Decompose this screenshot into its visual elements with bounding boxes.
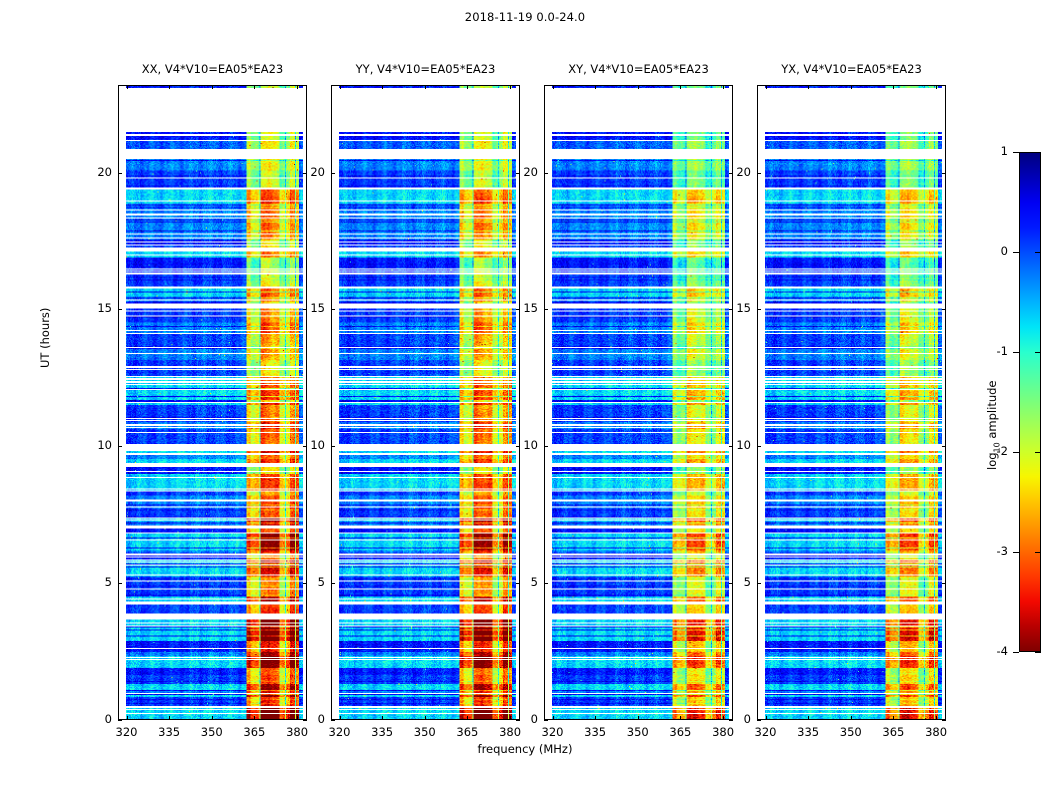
colorbar-gradient	[1020, 153, 1040, 651]
colorbar-tick-mark	[1035, 352, 1041, 353]
x-tick-mark	[127, 85, 128, 89]
x-tick-mark	[254, 85, 255, 89]
figure-title: 2018-11-19 0.0-24.0	[0, 10, 1050, 24]
x-tick-mark	[680, 716, 681, 720]
spectrogram-image-yy	[332, 86, 519, 719]
y-tick-mark	[757, 173, 761, 174]
panel-title-xy: XY, V4*V10=EA05*EA23	[544, 62, 733, 76]
colorbar-tick-mark	[1035, 152, 1041, 153]
y-tick-label: 10	[78, 438, 112, 452]
y-tick-mark	[118, 309, 122, 310]
colorbar-tick-mark	[1035, 652, 1041, 653]
colorbar-tick-mark	[1013, 252, 1019, 253]
spectrogram-panel-yx[interactable]	[757, 85, 946, 720]
x-tick-mark	[467, 85, 468, 89]
y-tick-mark	[544, 583, 548, 584]
x-tick-label: 335	[149, 725, 189, 739]
x-tick-label: 380	[703, 725, 743, 739]
x-tick-mark	[851, 85, 852, 89]
x-tick-mark	[808, 85, 809, 89]
x-tick-mark	[680, 85, 681, 89]
x-tick-label: 380	[277, 725, 317, 739]
colorbar-tick-label: -1	[978, 344, 1008, 358]
spectrogram-panel-yy[interactable]	[331, 85, 520, 720]
y-tick-mark	[544, 720, 548, 721]
y-tick-label: 5	[504, 575, 538, 589]
y-tick-label: 10	[717, 438, 751, 452]
y-tick-label: 15	[717, 301, 751, 315]
x-tick-mark	[595, 85, 596, 89]
x-tick-mark	[553, 716, 554, 720]
y-tick-label: 0	[717, 712, 751, 726]
y-tick-mark	[331, 173, 335, 174]
x-tick-label: 380	[490, 725, 530, 739]
x-tick-mark	[254, 716, 255, 720]
colorbar-tick-mark	[1035, 452, 1041, 453]
panel-title-yy: YY, V4*V10=EA05*EA23	[331, 62, 520, 76]
y-tick-label: 15	[504, 301, 538, 315]
x-tick-mark	[893, 716, 894, 720]
y-tick-label: 0	[504, 712, 538, 726]
x-tick-mark	[851, 716, 852, 720]
x-tick-mark	[127, 716, 128, 720]
y-tick-mark	[118, 446, 122, 447]
y-tick-label: 20	[291, 165, 325, 179]
x-tick-mark	[510, 85, 511, 89]
y-tick-mark	[942, 446, 946, 447]
y-axis-label: UT (hours)	[38, 308, 52, 368]
y-tick-label: 10	[291, 438, 325, 452]
colorbar-tick-mark	[1035, 252, 1041, 253]
y-tick-mark	[544, 309, 548, 310]
y-tick-label: 20	[717, 165, 751, 179]
x-tick-mark	[212, 716, 213, 720]
colorbar-tick-mark	[1035, 552, 1041, 553]
y-tick-label: 20	[504, 165, 538, 179]
x-tick-mark	[425, 85, 426, 89]
colorbar-label-main: log	[985, 452, 999, 470]
spectrogram-image-xy	[545, 86, 732, 719]
x-tick-label: 350	[405, 725, 445, 739]
y-tick-mark	[942, 309, 946, 310]
x-tick-label: 365	[447, 725, 487, 739]
spectrogram-image-xx	[119, 86, 306, 719]
panel-title-yx: YX, V4*V10=EA05*EA23	[757, 62, 946, 76]
x-tick-mark	[297, 85, 298, 89]
colorbar-tick-label: -4	[978, 644, 1008, 658]
y-tick-mark	[118, 583, 122, 584]
colorbar-tick-mark	[1013, 452, 1019, 453]
x-tick-label: 320	[107, 725, 147, 739]
y-tick-mark	[331, 583, 335, 584]
x-tick-mark	[893, 85, 894, 89]
x-tick-label: 335	[362, 725, 402, 739]
y-tick-mark	[942, 173, 946, 174]
y-tick-label: 0	[78, 712, 112, 726]
colorbar-tick-mark	[1013, 552, 1019, 553]
x-tick-mark	[638, 85, 639, 89]
x-tick-mark	[808, 716, 809, 720]
y-tick-mark	[331, 309, 335, 310]
colorbar-tick-mark	[1013, 652, 1019, 653]
x-tick-label: 365	[873, 725, 913, 739]
y-tick-label: 15	[78, 301, 112, 315]
y-tick-mark	[942, 583, 946, 584]
colorbar[interactable]	[1019, 152, 1041, 652]
y-tick-mark	[757, 446, 761, 447]
x-axis-label: frequency (MHz)	[0, 742, 1050, 756]
colorbar-label-subscript: 10	[992, 442, 1001, 452]
x-tick-mark	[340, 716, 341, 720]
y-tick-label: 5	[291, 575, 325, 589]
x-tick-label: 335	[575, 725, 615, 739]
x-tick-mark	[340, 85, 341, 89]
x-tick-mark	[936, 716, 937, 720]
y-tick-mark	[942, 720, 946, 721]
y-tick-mark	[757, 583, 761, 584]
spectrogram-panel-xy[interactable]	[544, 85, 733, 720]
colorbar-tick-mark	[1013, 352, 1019, 353]
x-tick-mark	[766, 716, 767, 720]
x-tick-mark	[382, 716, 383, 720]
x-tick-label: 350	[831, 725, 871, 739]
panel-title-xx: XX, V4*V10=EA05*EA23	[118, 62, 307, 76]
y-tick-label: 5	[717, 575, 751, 589]
y-tick-label: 0	[291, 712, 325, 726]
y-tick-label: 5	[78, 575, 112, 589]
x-tick-label: 365	[660, 725, 700, 739]
x-tick-mark	[382, 85, 383, 89]
y-tick-label: 15	[291, 301, 325, 315]
x-tick-label: 320	[320, 725, 360, 739]
colorbar-tick-label: 0	[978, 244, 1008, 258]
x-tick-mark	[595, 716, 596, 720]
x-tick-mark	[723, 85, 724, 89]
x-tick-mark	[638, 716, 639, 720]
x-tick-label: 320	[533, 725, 573, 739]
y-tick-mark	[757, 720, 761, 721]
x-tick-label: 365	[234, 725, 274, 739]
x-tick-label: 350	[618, 725, 658, 739]
x-tick-mark	[425, 716, 426, 720]
y-tick-label: 20	[78, 165, 112, 179]
x-tick-mark	[553, 85, 554, 89]
x-tick-label: 380	[916, 725, 956, 739]
x-tick-mark	[467, 716, 468, 720]
y-tick-mark	[118, 720, 122, 721]
y-tick-mark	[544, 446, 548, 447]
x-tick-label: 350	[192, 725, 232, 739]
y-tick-mark	[331, 720, 335, 721]
spectrogram-panel-xx[interactable]	[118, 85, 307, 720]
colorbar-tick-label: 1	[978, 144, 1008, 158]
colorbar-label: log10 amplitude	[985, 381, 1001, 471]
spectrogram-image-yx	[758, 86, 945, 719]
x-tick-mark	[766, 85, 767, 89]
x-tick-mark	[169, 716, 170, 720]
colorbar-label-rest: amplitude	[985, 381, 999, 443]
colorbar-tick-label: -3	[978, 544, 1008, 558]
x-tick-label: 320	[746, 725, 786, 739]
y-tick-mark	[331, 446, 335, 447]
y-tick-mark	[118, 173, 122, 174]
x-tick-mark	[212, 85, 213, 89]
x-tick-label: 335	[788, 725, 828, 739]
y-tick-mark	[757, 309, 761, 310]
y-tick-label: 10	[504, 438, 538, 452]
x-tick-mark	[169, 85, 170, 89]
x-tick-mark	[936, 85, 937, 89]
colorbar-tick-mark	[1013, 152, 1019, 153]
y-tick-mark	[544, 173, 548, 174]
